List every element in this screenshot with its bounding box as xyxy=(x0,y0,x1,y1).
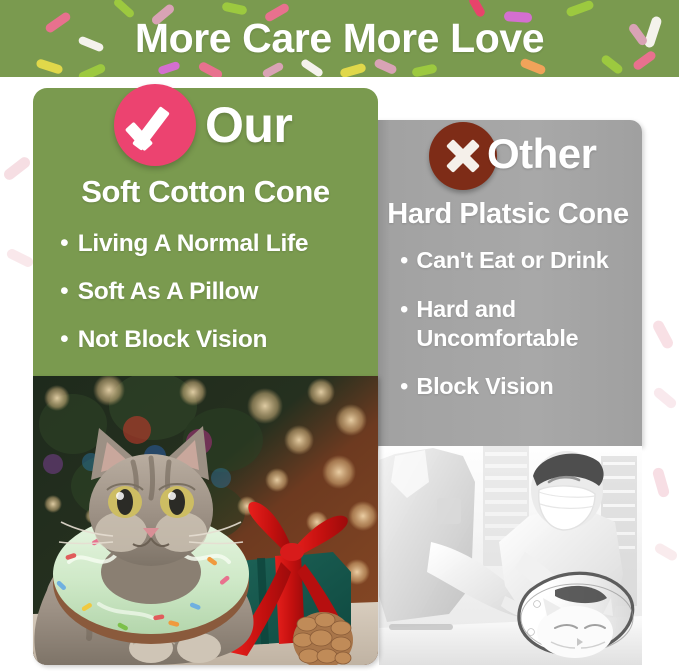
bullet-marker: • xyxy=(60,228,69,259)
other-title: Other xyxy=(487,130,597,178)
our-title: Our xyxy=(205,96,292,154)
sprinkle-decoration xyxy=(2,155,32,182)
list-item: • Can't Eat or Drink xyxy=(400,246,642,276)
list-item: • Soft As A Pillow xyxy=(60,276,378,307)
sprinkle-decoration xyxy=(651,319,675,351)
our-card: Our Soft Cotton Cone • Living A Normal L… xyxy=(33,88,378,376)
list-item-label: Living A Normal Life xyxy=(78,228,308,259)
other-subtitle: Hard Platsic Cone xyxy=(374,198,642,231)
list-item: • Hard and Uncomfortable xyxy=(400,295,642,353)
list-item-label: Can't Eat or Drink xyxy=(416,246,608,275)
sprinkle-decoration xyxy=(653,542,679,563)
list-item-label: Block Vision xyxy=(416,372,553,401)
list-item-label: Soft As A Pillow xyxy=(78,276,258,307)
bullet-marker: • xyxy=(60,276,69,307)
sprinkle-decoration xyxy=(652,467,671,499)
sprinkle-decoration xyxy=(652,386,678,410)
check-circle-icon xyxy=(114,84,196,166)
bullet-marker: • xyxy=(400,246,408,276)
other-bullet-list: • Can't Eat or Drink • Hard and Uncomfor… xyxy=(400,246,642,421)
christmas-cat-illustration xyxy=(33,376,378,665)
list-item: • Block Vision xyxy=(400,372,642,402)
our-subtitle: Soft Cotton Cone xyxy=(33,174,378,210)
bullet-marker: • xyxy=(400,372,408,402)
other-comparison-column: Other Hard Platsic Cone • Can't Eat or D… xyxy=(374,120,642,665)
page-title: More Care More Love xyxy=(0,0,679,77)
other-card: Other Hard Platsic Cone • Can't Eat or D… xyxy=(374,120,642,446)
list-item-label: Not Block Vision xyxy=(78,324,267,355)
our-product-photo xyxy=(33,376,378,665)
sprinkle-decoration xyxy=(5,247,35,268)
list-item-label: Hard and Uncomfortable xyxy=(416,295,642,353)
our-bullet-list: • Living A Normal Life • Soft As A Pillo… xyxy=(60,228,378,372)
our-comparison-column: Our Soft Cotton Cone • Living A Normal L… xyxy=(33,88,378,665)
list-item: • Living A Normal Life xyxy=(60,228,378,259)
vet-clinic-illustration xyxy=(379,446,642,665)
bullet-marker: • xyxy=(400,295,408,325)
list-item: • Not Block Vision xyxy=(60,324,378,355)
other-card-header: Other xyxy=(374,120,642,192)
our-card-header: Our xyxy=(33,88,378,166)
header-banner: More Care More Love xyxy=(0,0,679,77)
bullet-marker: • xyxy=(60,324,69,355)
other-product-photo xyxy=(379,446,642,665)
